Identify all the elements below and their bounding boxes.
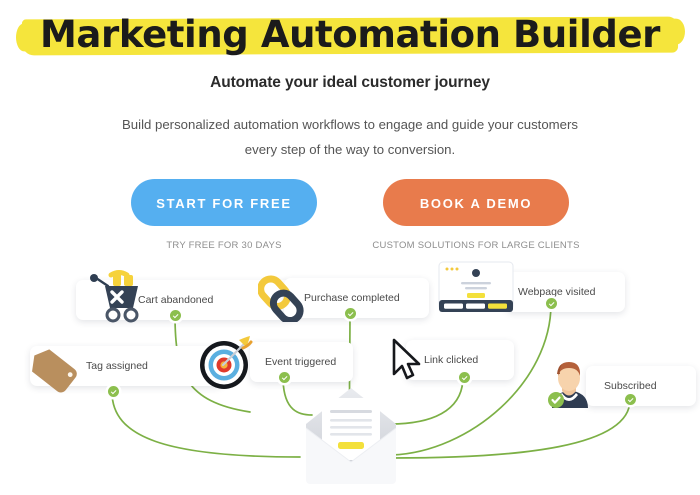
node-dot-cart-abandoned xyxy=(170,310,181,321)
person-avatar-icon xyxy=(546,358,592,415)
node-label-link-clicked: Link clicked xyxy=(424,354,478,366)
description-line-2: every step of the way to conversion. xyxy=(245,142,455,157)
node-dot-event-triggered xyxy=(279,372,290,383)
node-dot-webpage-visited xyxy=(546,298,557,309)
book-a-demo-button[interactable]: BOOK A DEMO xyxy=(383,179,569,226)
page-description: Build personalized automation workflows … xyxy=(100,112,600,162)
node-label-event-triggered: Event triggered xyxy=(265,356,336,368)
open-envelope-icon xyxy=(296,380,406,495)
secondary-cta-note: CUSTOM SOLUTIONS FOR LARGE CLIENTS xyxy=(372,240,579,251)
start-for-free-button[interactable]: START FOR FREE xyxy=(131,179,317,226)
node-dot-purchase-completed xyxy=(345,308,356,319)
hero-section: Marketing Automation Builder Automate yo… xyxy=(0,0,700,162)
node-dot-subscribed xyxy=(625,394,636,405)
tag-icon xyxy=(28,344,90,409)
node-card-event-triggered[interactable]: Event triggered xyxy=(250,342,353,382)
primary-cta-note: TRY FREE FOR 30 DAYS xyxy=(166,240,281,251)
description-line-1: Build personalized automation workflows … xyxy=(122,117,578,132)
page-subtitle: Automate your ideal customer journey xyxy=(0,74,700,92)
node-label-webpage-visited: Webpage visited xyxy=(518,286,595,298)
node-label-purchase-completed: Purchase completed xyxy=(304,292,400,304)
node-card-webpage-visited[interactable]: Webpage visited xyxy=(506,272,625,312)
shopping-cart-icon xyxy=(86,268,148,329)
automation-workflow-diagram: Cart abandoned Purchase completed xyxy=(0,252,700,492)
node-card-subscribed[interactable]: Subscribed xyxy=(586,366,696,406)
node-dot-tag-assigned xyxy=(108,386,119,397)
page-title-wrapper: Marketing Automation Builder xyxy=(36,12,664,58)
target-dart-icon xyxy=(197,332,259,397)
node-label-subscribed: Subscribed xyxy=(604,380,657,392)
node-dot-link-clicked xyxy=(459,372,470,383)
wire-tag-assigned xyxy=(112,392,300,457)
browser-window-icon xyxy=(437,260,515,319)
node-label-tag-assigned: Tag assigned xyxy=(86,360,148,372)
cta-row: START FOR FREE TRY FREE FOR 30 DAYS BOOK… xyxy=(0,179,700,251)
node-label-cart-abandoned: Cart abandoned xyxy=(138,294,213,306)
chain-link-icon xyxy=(258,266,314,327)
page-title: Marketing Automation Builder xyxy=(36,12,664,58)
primary-cta-group: START FOR FREE TRY FREE FOR 30 DAYS xyxy=(131,179,317,251)
secondary-cta-group: BOOK A DEMO CUSTOM SOLUTIONS FOR LARGE C… xyxy=(383,179,569,251)
